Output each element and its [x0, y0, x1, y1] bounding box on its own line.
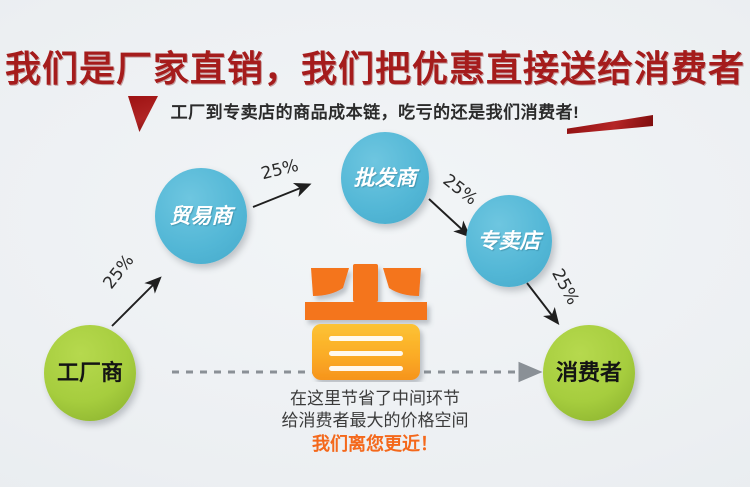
arrow-trader-to-wholesaler — [253, 185, 308, 207]
footer-caption: 在这里节省了中间环节 给消费者最大的价格空间 我们离您更近！ — [0, 388, 750, 457]
page-title: 我们是厂家直销，我们把优惠直接送给消费者 — [0, 40, 750, 92]
markup-label-step-4: 25% — [547, 266, 582, 309]
sheng-savings-logo-icon — [295, 262, 437, 382]
caption-line-2: 给消费者最大的价格空间 — [0, 410, 750, 432]
arrow-store-to-consumer — [527, 283, 557, 322]
node-consumer-label: 消费者 — [556, 362, 622, 384]
node-trader[interactable]: 贸易商 — [155, 168, 247, 264]
caption-line-1: 在这里节省了中间环节 — [0, 388, 750, 410]
markup-label-step-3: 25% — [439, 170, 481, 209]
node-wholesaler[interactable]: 批发商 — [341, 132, 429, 224]
subtitle-text: 工厂到专卖店的商品成本链，吃亏的还是我们消费者! — [0, 98, 750, 123]
promo-banner: 我们是厂家直销，我们把优惠直接送给消费者 工厂到专卖店的商品成本链，吃亏的还是我… — [0, 0, 750, 487]
node-exclusive-store[interactable]: 专卖店 — [466, 195, 552, 287]
markup-label-step-1: 25% — [99, 251, 138, 293]
node-trader-label: 贸易商 — [170, 206, 233, 227]
node-wholesaler-label: 批发商 — [354, 168, 417, 189]
caption-line-3-accent: 我们离您更近！ — [0, 432, 750, 457]
node-factory-label: 工厂商 — [57, 362, 123, 384]
subtitle-banner: 工厂到专卖店的商品成本链，吃亏的还是我们消费者! — [0, 96, 750, 138]
node-exclusive-store-label: 专卖店 — [478, 231, 541, 252]
markup-label-step-2: 25% — [259, 156, 301, 185]
